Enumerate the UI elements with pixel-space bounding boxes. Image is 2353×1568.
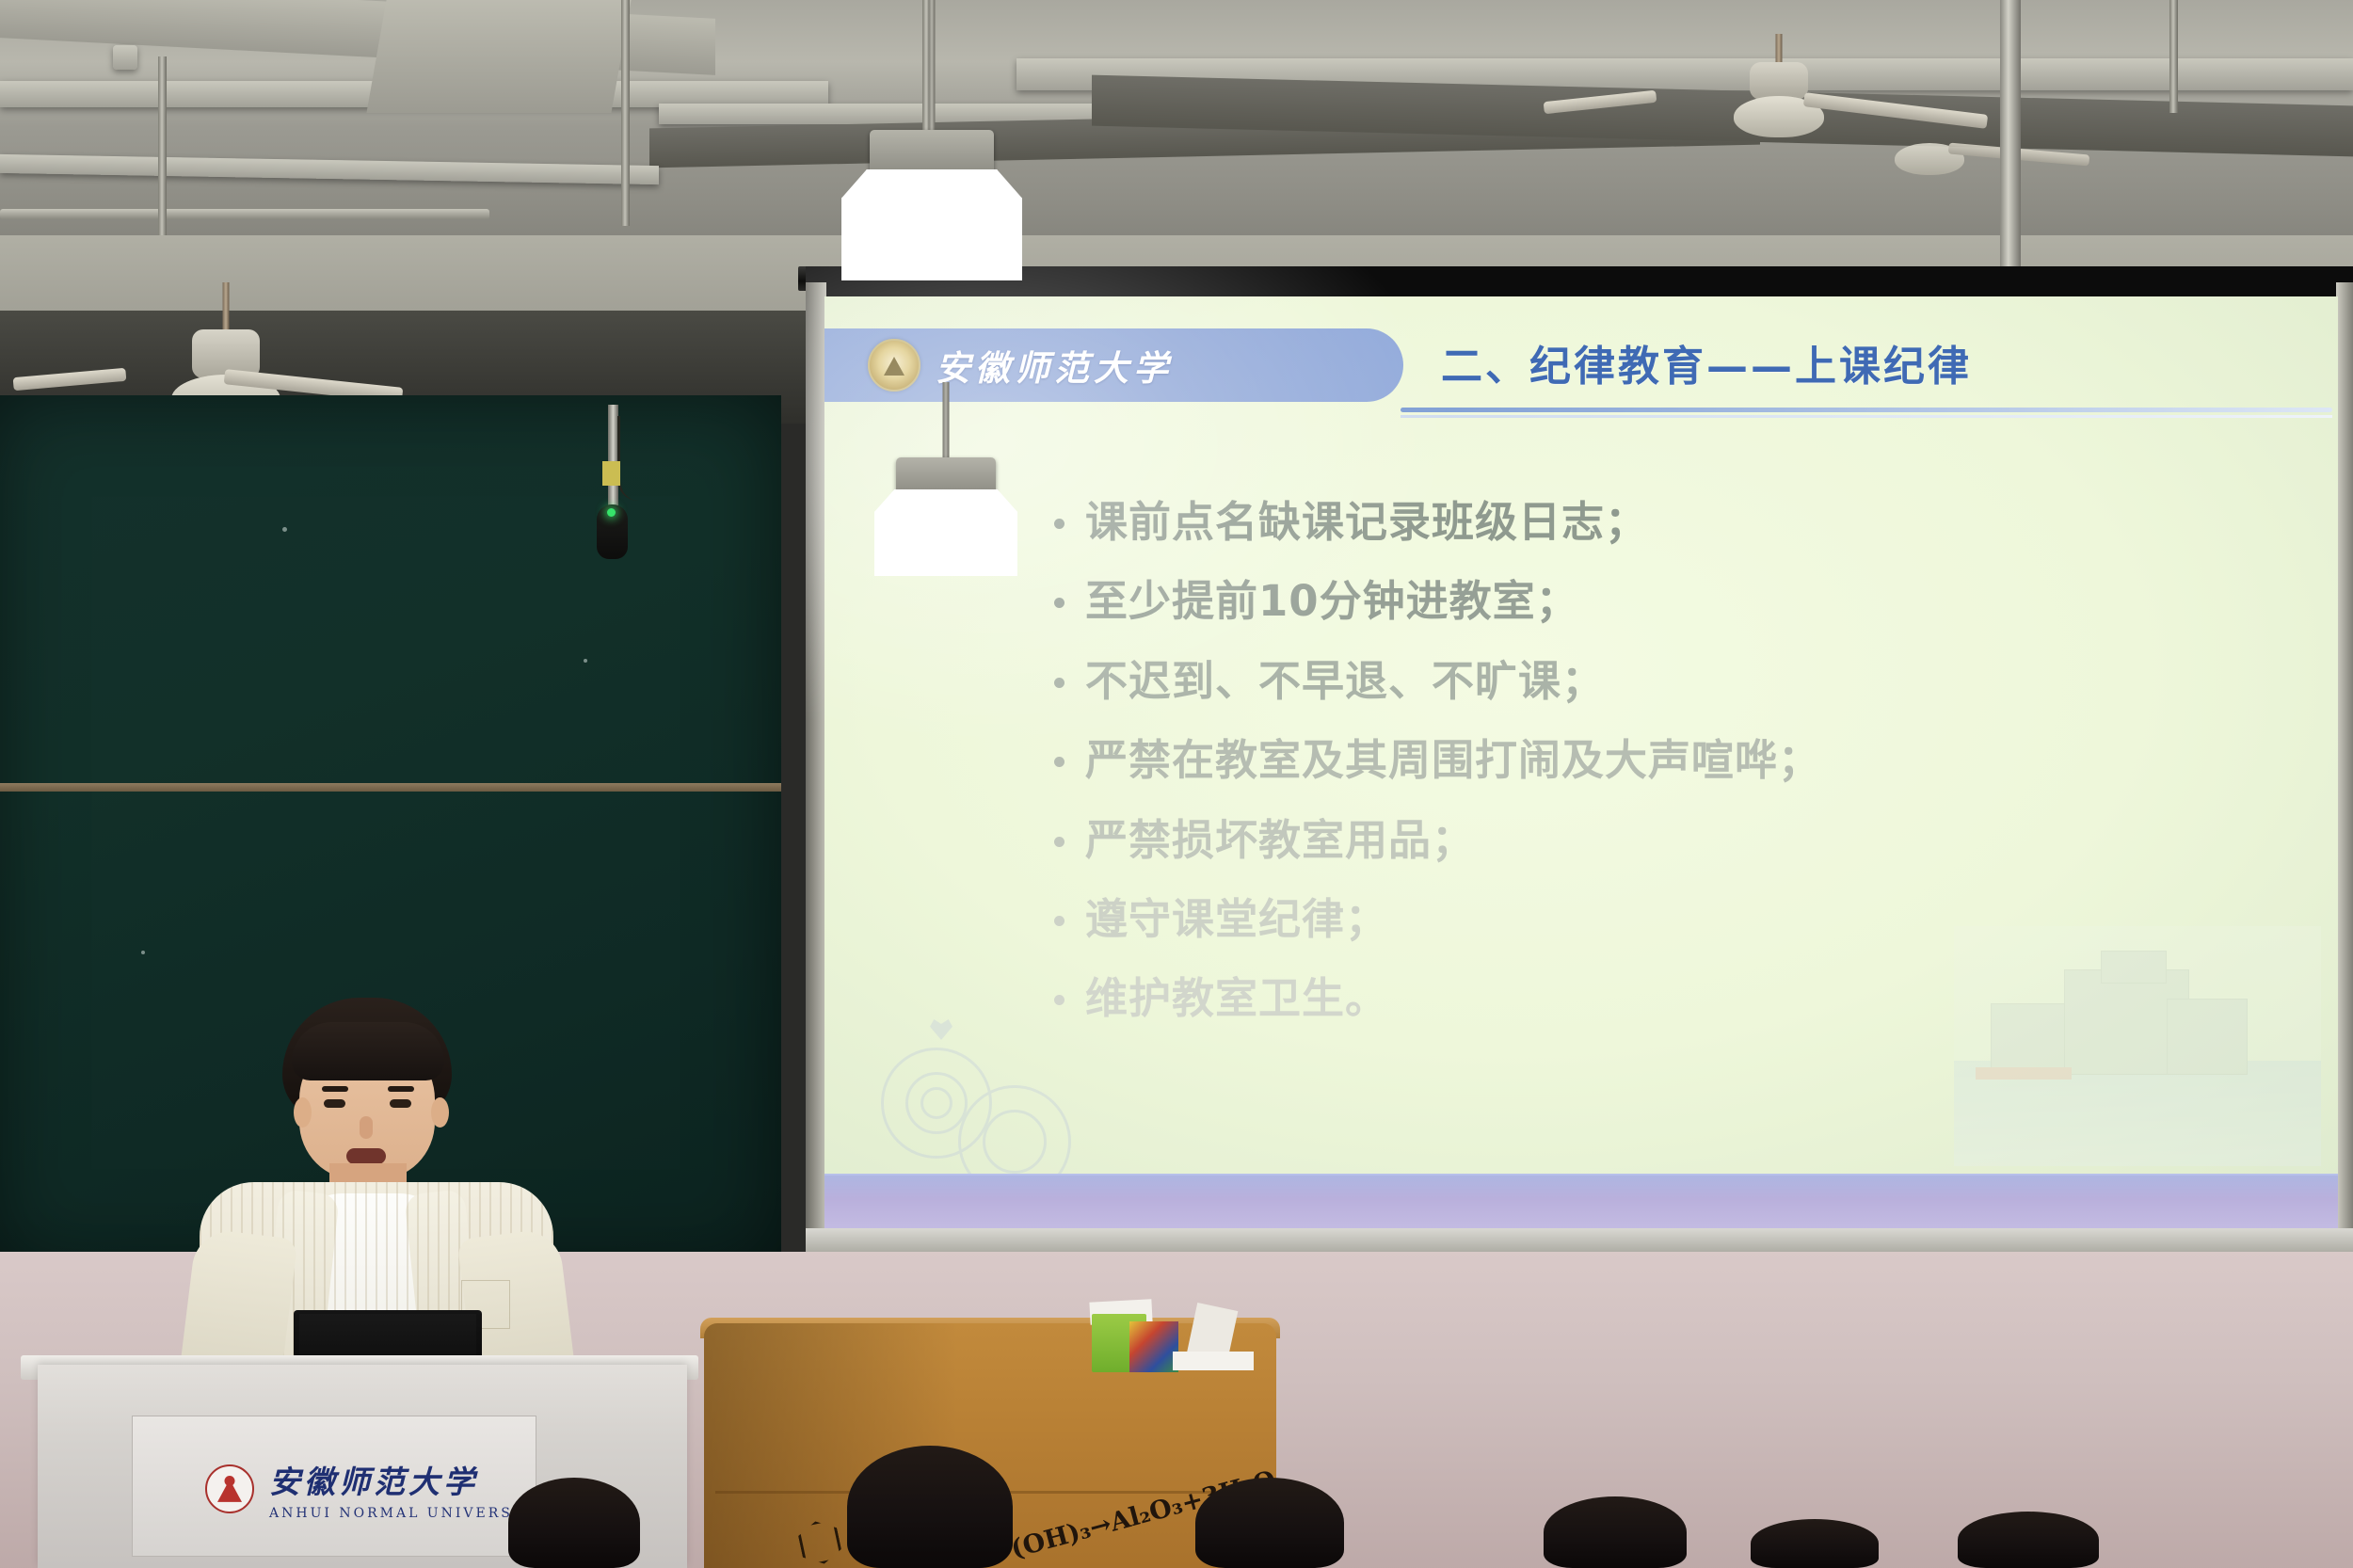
bullet-dot-icon [1054, 995, 1064, 1005]
bullet-text: 严禁损坏教室用品； [1085, 812, 1475, 868]
chalk-speck [141, 951, 145, 954]
fan-motor [1750, 62, 1808, 100]
ceiling-pipe-vertical-4 [2169, 0, 2178, 113]
title-rule-secondary [1401, 415, 2332, 418]
bullet-dot-icon [1054, 837, 1064, 847]
lecture-hall-scene: 安徽师范大学 二、纪律教育——上课纪律 课前点名缺课记录班级日志； 至少提前10… [0, 0, 2353, 1568]
blackboard-divider-rail [0, 783, 781, 792]
ceiling-fan-3 [1769, 120, 2089, 205]
paper-sheet [1173, 1352, 1254, 1370]
screen-side-rail-right [2336, 282, 2353, 1242]
ceiling-pipe-horizontal [0, 209, 489, 219]
microphone-tape [602, 461, 620, 486]
audience-head [847, 1446, 1013, 1568]
bullet-text: 课前点名缺课记录班级日志； [1085, 494, 1648, 550]
pipe-clamp [113, 45, 137, 70]
seal-dot [225, 1476, 235, 1486]
projected-slide: 安徽师范大学 二、纪律教育——上课纪律 课前点名缺课记录班级日志； 至少提前10… [824, 296, 2338, 1228]
audience-head [508, 1478, 640, 1568]
bullet-dot-icon [1054, 598, 1064, 608]
slide-bullet-list: 课前点名缺课记录班级日志； 至少提前10分钟进教室； 不迟到、不早退、不旷课； … [1054, 494, 2297, 1050]
presenter-fringe [292, 1022, 444, 1080]
presenter-brow [388, 1086, 414, 1092]
presenter-ear [294, 1097, 312, 1128]
slide-footer-bar [824, 1176, 2338, 1228]
chalk-speck [282, 527, 287, 532]
podium-university-name-en: ANHUI NORMAL UNIVERSITY [269, 1506, 544, 1521]
bullet-text: 遵守课堂纪律； [1085, 891, 1388, 947]
fluorescent-lamp-2 [856, 452, 1035, 621]
lamp-stem [929, 0, 936, 132]
audience-head [1195, 1478, 1344, 1568]
bullet-dot-icon [1054, 519, 1064, 529]
presenter-mouth [346, 1148, 386, 1164]
lamp-tubes-bottom [906, 544, 985, 570]
audience-head [1544, 1496, 1687, 1568]
presenter-eye [324, 1099, 345, 1108]
fluorescent-lamp-1 [828, 122, 1035, 405]
fan-rod [1776, 34, 1783, 66]
lamp-tubes-bottom [882, 239, 982, 273]
list-item: 课前点名缺课记录班级日志； [1054, 494, 2297, 550]
bullet-dot-icon [1054, 678, 1064, 688]
audience-head [1751, 1519, 1879, 1568]
list-item: 严禁在教室及其周围打闹及大声喧哗； [1054, 732, 2297, 788]
screen-side-rail-left [806, 282, 826, 1242]
podium-branding: 安徽师范大学 ANHUI NORMAL UNIVERSITY [205, 1457, 544, 1521]
presenter-nose [360, 1116, 373, 1139]
fan-rod [223, 282, 230, 331]
bullet-text: 至少提前10分钟进教室； [1085, 573, 1579, 629]
bullet-text: 不迟到、不早退、不旷课； [1085, 653, 1605, 709]
presenter-eye [390, 1099, 411, 1108]
audience-head [1958, 1512, 2099, 1568]
projector-pole [2000, 0, 2021, 282]
list-item: 不迟到、不早退、不旷课； [1054, 653, 2297, 709]
microphone-led-icon [607, 508, 616, 517]
colorful-book [1129, 1321, 1178, 1372]
university-seal-icon [205, 1464, 254, 1513]
presenter-ear [431, 1097, 449, 1128]
lamp-stem [943, 382, 950, 461]
list-item: 至少提前10分钟进教室； [1054, 573, 2297, 629]
list-item: 维护教室卫生。 [1054, 970, 2297, 1026]
ceiling-pillar-face [366, 0, 631, 113]
title-rule [1401, 408, 2332, 412]
podium-university-name-cn: 安徽师范大学 [269, 1457, 544, 1502]
bullet-dot-icon [1054, 916, 1064, 926]
microphone-wire [617, 416, 649, 501]
presenter-brow [322, 1086, 348, 1092]
bullet-text: 维护教室卫生。 [1085, 970, 1388, 1026]
bullet-dot-icon [1054, 757, 1064, 767]
ceiling-pipe-vertical-2 [621, 0, 630, 226]
chalk-speck [584, 659, 587, 663]
bullet-text: 严禁在教室及其周围打闹及大声喧哗； [1085, 732, 1821, 788]
list-item: 严禁损坏教室用品； [1054, 812, 2297, 868]
slide-title: 二、纪律教育——上课纪律 [1441, 332, 1972, 392]
list-item: 遵守课堂纪律； [1054, 891, 2297, 947]
